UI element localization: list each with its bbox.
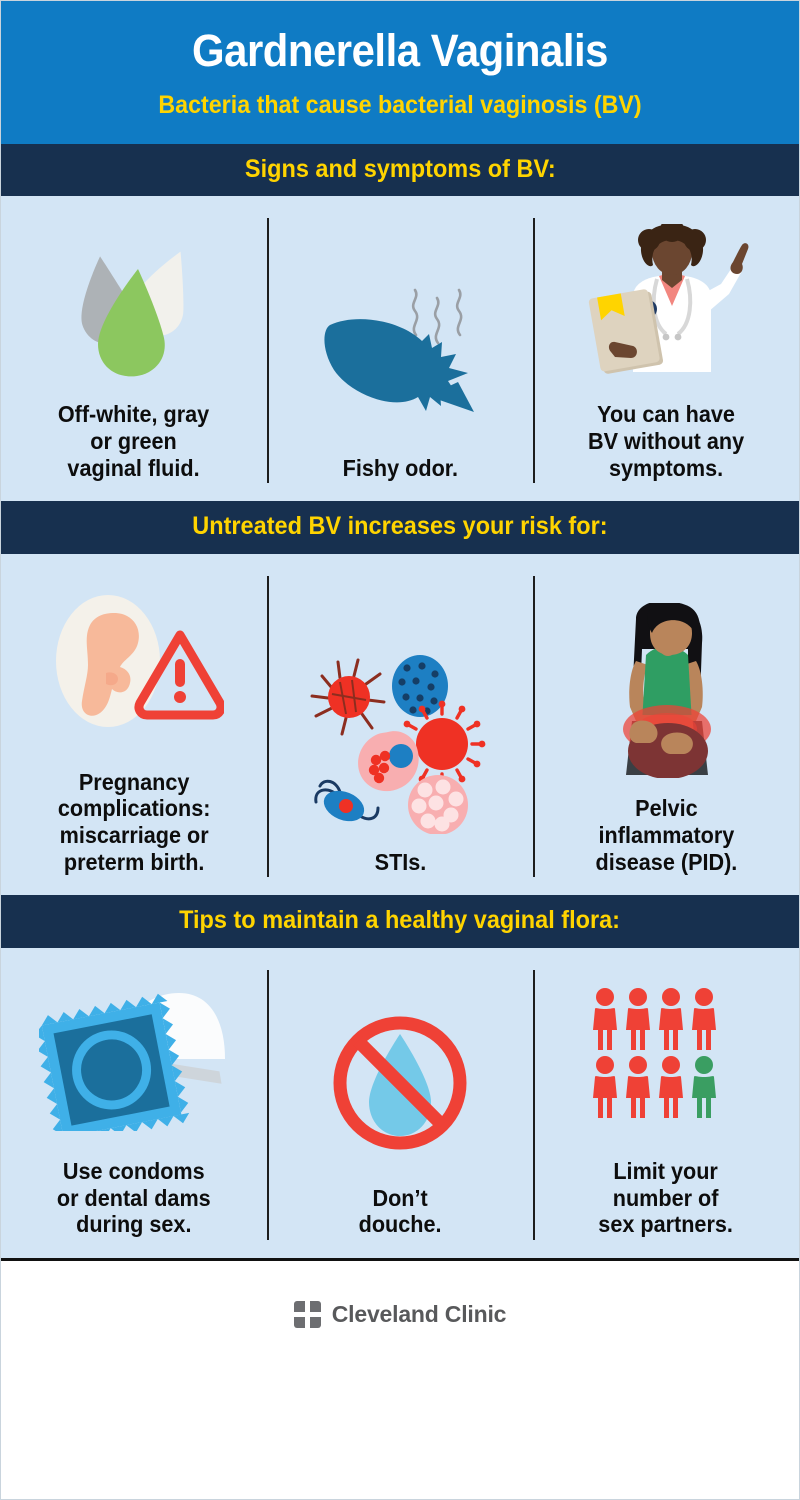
item-fishy-odor: Fishy odor. xyxy=(267,196,533,501)
section-band-risks: Untreated BV increases your risk for: xyxy=(1,501,799,554)
item-limit-partners-caption: Limit your number of sex partners. xyxy=(599,1158,734,1238)
page-title: Gardnerella Vaginalis xyxy=(51,27,749,74)
fetus-warning-icon xyxy=(9,572,259,757)
section-symptoms: Off-white, gray or green vaginal fluid. … xyxy=(1,196,799,501)
item-vaginal-fluid: Off-white, gray or green vaginal fluid. xyxy=(1,196,267,501)
pelvic-pain-woman-icon xyxy=(541,598,791,783)
item-pregnancy-complications-caption: Pregnancy complications: miscarriage or … xyxy=(58,769,211,876)
section-risks: Pregnancy complications: miscarriage or … xyxy=(1,554,799,896)
doctor-icon xyxy=(541,214,791,389)
item-pid: Pelvic inflammatory disease (PID). xyxy=(533,554,799,896)
item-fishy-odor-caption: Fishy odor. xyxy=(342,455,457,482)
item-pregnancy-complications: Pregnancy complications: miscarriage or … xyxy=(1,554,267,896)
item-use-condoms-caption: Use condoms or dental dams during sex. xyxy=(57,1158,211,1238)
pathogens-icon xyxy=(275,652,525,837)
item-dont-douche: Don’t douche. xyxy=(267,948,533,1258)
section-tips: Use condoms or dental dams during sex. D… xyxy=(1,948,799,1258)
item-dont-douche-caption: Don’t douche. xyxy=(359,1185,442,1238)
cleveland-clinic-logo-text: Cleveland Clinic xyxy=(332,1301,506,1328)
page-subtitle: Bacteria that cause bacterial vaginosis … xyxy=(51,92,749,120)
item-pid-caption: Pelvic inflammatory disease (PID). xyxy=(595,795,737,875)
item-no-symptoms-caption: You can have BV without any symptoms. xyxy=(588,401,744,481)
item-stis-caption: STIs. xyxy=(374,849,426,876)
item-stis: STIs. xyxy=(267,554,533,896)
section-band-symptoms-label: Signs and symptoms of BV: xyxy=(245,156,556,184)
cleveland-clinic-logo-icon xyxy=(294,1301,321,1328)
item-vaginal-fluid-caption: Off-white, gray or green vaginal fluid. xyxy=(58,401,209,481)
header: Gardnerella Vaginalis Bacteria that caus… xyxy=(1,1,799,144)
no-douche-icon xyxy=(275,993,525,1173)
infographic-page: Gardnerella Vaginalis Bacteria that caus… xyxy=(0,0,800,1500)
footer: Cleveland Clinic xyxy=(1,1261,799,1369)
condom-icon xyxy=(9,966,259,1146)
section-band-tips-label: Tips to maintain a healthy vaginal flora… xyxy=(180,907,621,935)
item-no-symptoms: You can have BV without any symptoms. xyxy=(533,196,799,501)
fluid-droplets-icon xyxy=(9,214,259,389)
fish-odor-icon xyxy=(275,268,525,443)
item-limit-partners: Limit your number of sex partners. xyxy=(533,948,799,1258)
people-group-icon xyxy=(541,966,791,1146)
section-band-tips: Tips to maintain a healthy vaginal flora… xyxy=(1,895,799,948)
section-band-symptoms: Signs and symptoms of BV: xyxy=(1,144,799,197)
item-use-condoms: Use condoms or dental dams during sex. xyxy=(1,948,267,1258)
section-band-risks-label: Untreated BV increases your risk for: xyxy=(192,513,607,541)
